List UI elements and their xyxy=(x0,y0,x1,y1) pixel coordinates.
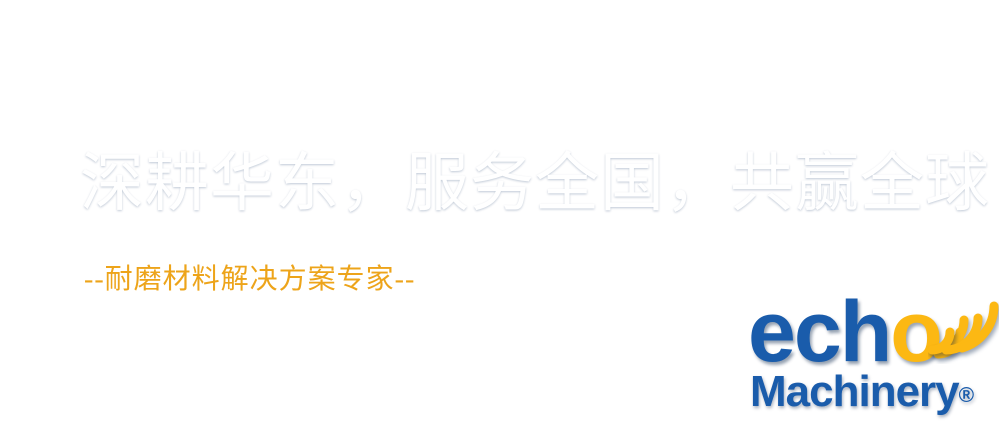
logo-letter-e: e xyxy=(748,296,794,370)
logo-letter-c: c xyxy=(794,296,840,370)
banner-headline: 深耕华东，服务全国，共赢全球 xyxy=(80,152,990,216)
registered-trademark-icon: ® xyxy=(959,384,974,407)
logo-subbrand-text: Machinery xyxy=(750,367,959,416)
logo-letter-h: h xyxy=(840,296,891,370)
hero-banner: 深耕华东，服务全国，共赢全球 --耐磨材料解决方案专家-- e c h o Ma… xyxy=(0,0,999,422)
echo-waves-icon xyxy=(928,292,999,364)
echo-machinery-logo[interactable]: e c h o Machinery® xyxy=(742,296,999,422)
logo-subbrand: Machinery® xyxy=(750,370,974,414)
logo-wordmark: e c h o xyxy=(748,296,941,370)
banner-subtitle: --耐磨材料解决方案专家-- xyxy=(84,266,415,294)
